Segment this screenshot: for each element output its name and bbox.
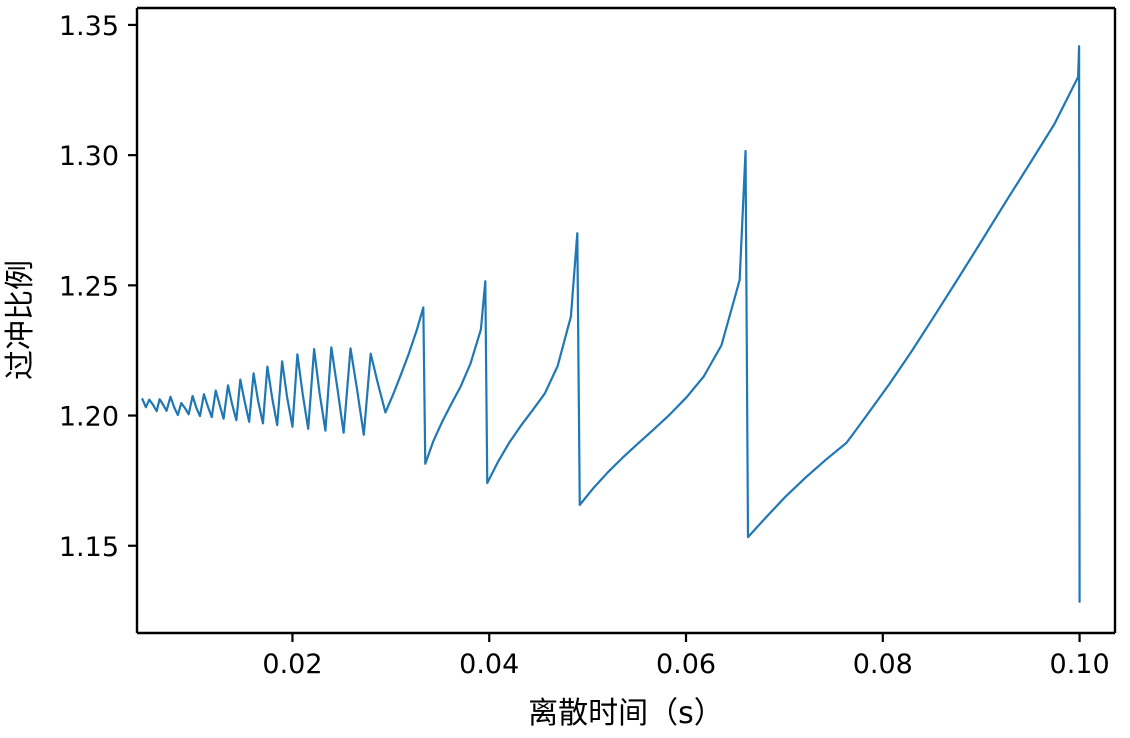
y-axis-title: 过冲比例 <box>3 260 38 380</box>
x-axis-title: 离散时间（s） <box>528 696 724 731</box>
x-tick-label: 0.10 <box>1050 649 1110 680</box>
axes-background <box>137 8 1115 633</box>
y-tick-label: 1.30 <box>59 141 119 172</box>
y-tick-label: 1.15 <box>59 532 119 563</box>
x-tick-label: 0.08 <box>853 649 913 680</box>
x-tick-label: 0.02 <box>262 649 322 680</box>
chart-plot: 0.020.040.060.080.10 1.151.201.251.301.3… <box>0 0 1130 738</box>
x-tick-label: 0.04 <box>459 649 519 680</box>
y-tick-label: 1.20 <box>59 402 119 433</box>
y-tick-label: 1.25 <box>59 271 119 302</box>
figure-canvas: 0.020.040.060.080.10 1.151.201.251.301.3… <box>0 0 1130 738</box>
y-tick-label: 1.35 <box>59 11 119 42</box>
x-tick-label: 0.06 <box>656 649 716 680</box>
